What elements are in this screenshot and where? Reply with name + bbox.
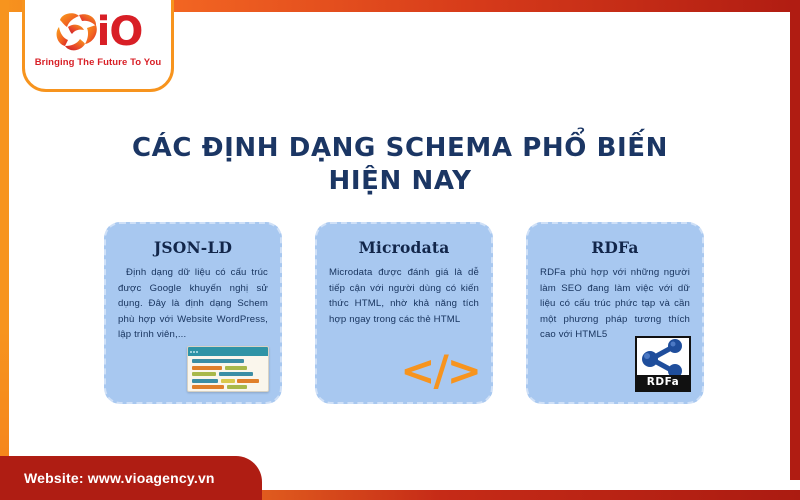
card-title: Microdata (329, 238, 479, 257)
page-title: CÁC ĐỊNH DẠNG SCHEMA PHỔ BIẾN HIỆN NAY (0, 132, 800, 198)
code-window-icon (187, 346, 269, 392)
rdfa-logo-icon: RDFa (635, 336, 691, 392)
page-title-line1: CÁC ĐỊNH DẠNG SCHEMA PHỔ BIẾN (0, 132, 800, 165)
page-title-line2: HIỆN NAY (0, 165, 800, 198)
left-accent-bar (0, 0, 9, 470)
card-microdata[interactable]: Microdata Microdata được đánh giá là dễ … (315, 222, 493, 404)
slide-canvas: iO Bringing The Future To You CÁC ĐỊNH D… (0, 0, 800, 500)
card-body: Microdata được đánh giá là dễ tiếp cận v… (329, 265, 479, 327)
schema-format-cards: JSON-LD Định dạng dữ liệu có cấu trúc đư… (104, 222, 704, 404)
card-title: JSON-LD (118, 238, 268, 257)
footer-website-text: Website: www.vioagency.vn (0, 470, 215, 486)
rdfa-logo-label: RDFa (637, 375, 689, 390)
card-json-ld[interactable]: JSON-LD Định dạng dữ liệu có cấu trúc đư… (104, 222, 282, 404)
right-accent-bar (790, 0, 800, 480)
code-glyph-text: </> (400, 350, 480, 392)
brand-logo-card: iO Bringing The Future To You (22, 0, 174, 92)
logo-tagline: Bringing The Future To You (35, 57, 162, 68)
angle-brackets-code-icon: </> (400, 350, 480, 392)
vio-swirl-icon (54, 11, 100, 53)
logo-wordmark: iO (97, 13, 143, 51)
footer-banner: Website: www.vioagency.vn (0, 456, 262, 500)
card-body: Định dạng dữ liệu có cấu trúc được Googl… (118, 265, 268, 343)
card-title: RDFa (540, 238, 690, 257)
card-rdfa[interactable]: RDFa RDFa phù hợp với những người làm SE… (526, 222, 704, 404)
card-body: RDFa phù hợp với những người làm SEO đan… (540, 265, 690, 343)
